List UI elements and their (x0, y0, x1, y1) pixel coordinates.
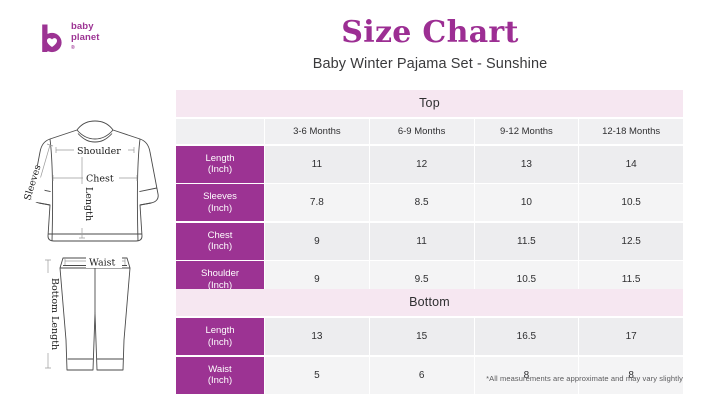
cell-value: 11 (264, 146, 369, 183)
brand-logo: baby planet® (38, 22, 100, 54)
label-waist: Waist (89, 258, 116, 269)
cell-value: 10 (474, 184, 579, 221)
table-title-top: Top (176, 90, 683, 117)
table-header-row-top: 3-6 Months 6-9 Months 9-12 Months 12-18 … (176, 119, 683, 144)
label-shoulder: Shoulder (77, 146, 121, 157)
row-label-waist: Waist (Inch) (176, 357, 264, 394)
cell-value: 5 (264, 357, 369, 394)
trademark-symbol: ® (71, 43, 100, 54)
row-label-unit: (Inch) (208, 375, 232, 387)
column-header-12-18-months: 12-18 Months (578, 119, 683, 144)
cell-value: 12.5 (578, 223, 683, 260)
row-label-text: Shoulder (201, 268, 239, 280)
column-header-6-9-months: 6-9 Months (369, 119, 474, 144)
row-label-length: Length (Inch) (176, 146, 264, 183)
row-label-chest: Chest (Inch) (176, 223, 264, 260)
page-title: Size Chart (176, 16, 684, 50)
table-row: Length (Inch) 13 15 16.5 17 (176, 318, 683, 355)
table-row: Chest (Inch) 9 11 11.5 12.5 (176, 223, 683, 260)
table-row: Length (Inch) 11 12 13 14 (176, 146, 683, 183)
cell-value: 6 (369, 357, 474, 394)
row-label-length: Length (Inch) (176, 318, 264, 355)
page-subtitle: Baby Winter Pajama Set - Sunshine (176, 55, 684, 73)
brand-name-line2: planet® (71, 33, 100, 54)
table-title-bottom: Bottom (176, 289, 683, 316)
row-label-text: Waist (208, 364, 231, 376)
header-corner-cell (176, 119, 264, 144)
column-header-3-6-months: 3-6 Months (264, 119, 369, 144)
cell-value: 12 (369, 146, 474, 183)
row-label-unit: (Inch) (208, 164, 232, 176)
label-length: Length (83, 187, 94, 221)
cell-value: 11.5 (474, 223, 579, 260)
column-header-9-12-months: 9-12 Months (474, 119, 579, 144)
cell-value: 14 (578, 146, 683, 183)
row-label-unit: (Inch) (208, 203, 232, 215)
page-header: Size Chart Baby Winter Pajama Set - Suns… (176, 16, 684, 73)
brand-wordmark: baby planet® (71, 22, 100, 54)
garment-illustration: Shoulder Chest Length Sleeves Waist Bott… (20, 108, 170, 388)
row-label-text: Length (205, 325, 234, 337)
measurement-disclaimer: *All measurements are approximate and ma… (486, 374, 683, 383)
size-table-top: Top 3-6 Months 6-9 Months 9-12 Months 12… (176, 90, 683, 298)
row-label-text: Length (205, 153, 234, 165)
row-label-unit: (Inch) (208, 241, 232, 253)
cell-value: 9 (264, 223, 369, 260)
row-label-sleeves: Sleeves (Inch) (176, 184, 264, 221)
baby-planet-b-heart-icon (38, 23, 64, 53)
cell-value: 7.8 (264, 184, 369, 221)
pajama-diagram: Shoulder Chest Length Sleeves Waist Bott… (20, 108, 170, 388)
row-label-text: Sleeves (203, 191, 237, 203)
row-label-text: Chest (208, 230, 233, 242)
cell-value: 11 (369, 223, 474, 260)
cell-value: 16.5 (474, 318, 579, 355)
label-chest: Chest (86, 174, 114, 185)
row-label-unit: (Inch) (208, 337, 232, 349)
cell-value: 17 (578, 318, 683, 355)
cell-value: 8.5 (369, 184, 474, 221)
cell-value: 13 (264, 318, 369, 355)
table-row: Sleeves (Inch) 7.8 8.5 10 10.5 (176, 184, 683, 221)
cell-value: 10.5 (578, 184, 683, 221)
cell-value: 15 (369, 318, 474, 355)
label-bottom-length: Bottom Length (49, 278, 60, 350)
brand-name-line1: baby (71, 22, 100, 33)
cell-value: 13 (474, 146, 579, 183)
